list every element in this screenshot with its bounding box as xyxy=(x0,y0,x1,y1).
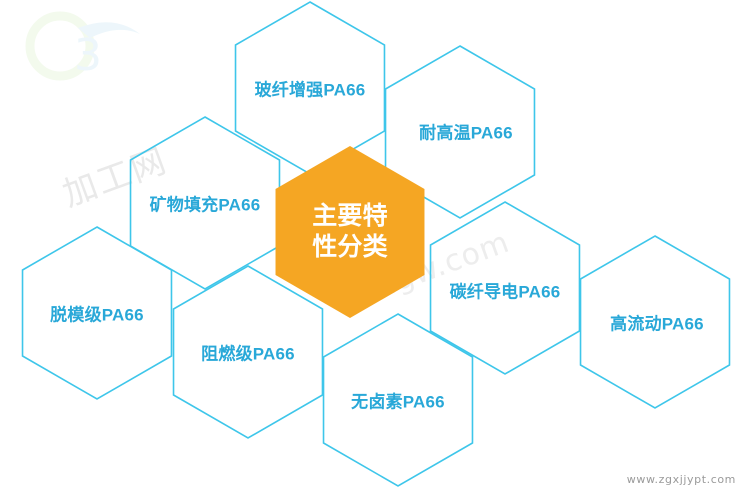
hexagon-node-label-1: 耐高温PA66 xyxy=(419,119,513,144)
hexagon-node-label-6: 阻燃级PA66 xyxy=(201,340,295,365)
hexagon-node-label-0: 玻纤增强PA66 xyxy=(255,76,366,101)
hexagon-node-label-3: 碳纤导电PA66 xyxy=(450,278,561,303)
hexagon-node-label-5: 高流动PA66 xyxy=(610,310,704,335)
hexagon-node-label-2: 矿物填充PA66 xyxy=(150,191,261,216)
hexagon-node-label-7: 无卤素PA66 xyxy=(351,388,445,413)
site-url: www.zgxjjypt.com xyxy=(627,473,736,486)
diagram-canvas: 3 加工网 nENgw.com 玻纤增强PA66耐高温PA66矿物填充PA66碳… xyxy=(0,0,750,494)
hexagon-node-label-4: 脱模级PA66 xyxy=(50,301,144,326)
hexagon-center-label: 主要特 性分类 xyxy=(312,201,388,264)
